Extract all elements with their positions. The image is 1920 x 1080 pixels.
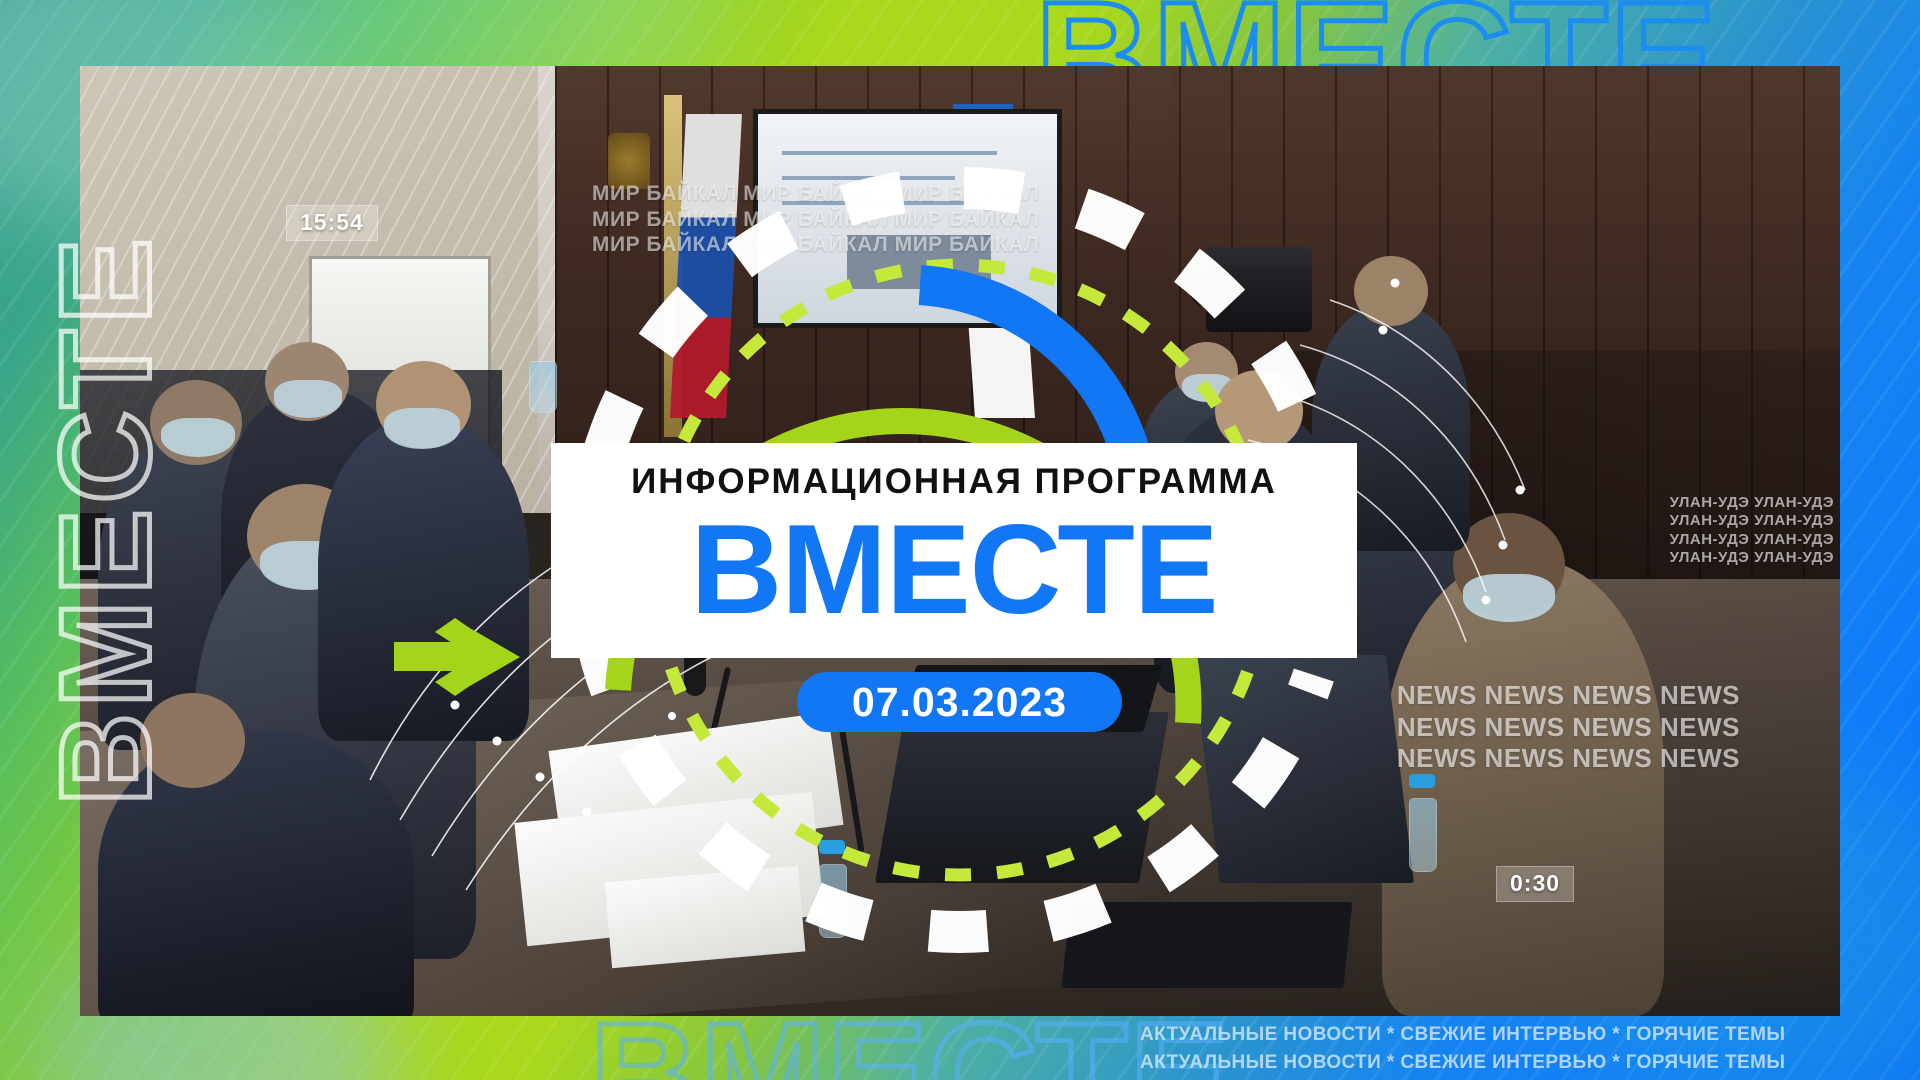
thumbnail-canvas: ВМЕСТЕ ВМЕСТЕ xyxy=(0,0,1920,1080)
monitor xyxy=(1192,655,1414,883)
laptop xyxy=(875,712,1169,883)
tv-camera-lens xyxy=(1189,270,1231,308)
watermark-line: NEWS NEWS NEWS NEWS xyxy=(1397,743,1740,775)
program-name: ВМЕСТЕ xyxy=(690,500,1217,640)
ticker-line: АКТУАЛЬНЫЕ НОВОСТИ * СВЕЖИЕ ИНТЕРВЬЮ * Г… xyxy=(1140,1021,1785,1049)
document-sheet xyxy=(605,865,805,967)
attendee-head xyxy=(1215,370,1303,452)
face-mask xyxy=(274,380,343,418)
water-bottle xyxy=(529,361,557,413)
bottle-cap xyxy=(1409,774,1435,788)
water-bottle xyxy=(1409,798,1437,872)
date-badge: 07.03.2023 xyxy=(797,672,1122,732)
watermark-line: УЛАН-УДЭ УЛАН-УДЭ xyxy=(1670,494,1834,512)
watermark-line: УЛАН-УДЭ УЛАН-УДЭ xyxy=(1670,512,1834,530)
keyboard xyxy=(1061,902,1352,988)
program-title-card: ИНФОРМАЦИОННАЯ ПРОГРАММА ВМЕСТЕ xyxy=(551,443,1357,658)
watermark-line: МИР БАЙКАЛ МИР БАЙКАЛ МИР БАЙКАЛ xyxy=(592,232,1040,258)
face-mask xyxy=(1463,574,1555,622)
water-bottle xyxy=(819,864,847,938)
attendee xyxy=(1382,560,1664,1016)
face-mask xyxy=(384,408,460,449)
vertical-outline-wordmark: ВМЕСТЕ xyxy=(43,232,171,805)
attendee xyxy=(318,418,529,741)
watermark-line: УЛАН-УДЭ УЛАН-УДЭ xyxy=(1670,531,1834,549)
watermark-news: NEWS NEWS NEWS NEWS NEWS NEWS NEWS NEWS … xyxy=(1397,680,1740,775)
bottle-cap xyxy=(819,840,845,854)
bottom-ticker: АКТУАЛЬНЫЕ НОВОСТИ * СВЕЖИЕ ИНТЕРВЬЮ * Г… xyxy=(1140,1021,1785,1080)
cameraman-head xyxy=(1354,256,1428,326)
timestamp-top-left: 15:54 xyxy=(286,205,378,241)
watermark-line: NEWS NEWS NEWS NEWS xyxy=(1397,712,1740,744)
ticker-line: АКТУАЛЬНЫЕ НОВОСТИ * СВЕЖИЕ ИНТЕРВЬЮ * Г… xyxy=(1140,1049,1785,1077)
watermark-line: NEWS NEWS NEWS NEWS xyxy=(1397,680,1740,712)
watermark-mir-baikal: МИР БАЙКАЛ МИР БАЙКАЛ МИР БАЙКАЛ МИР БАЙ… xyxy=(592,181,1040,258)
watermark-ulan-ude: УЛАН-УДЭ УЛАН-УДЭ УЛАН-УДЭ УЛАН-УДЭ УЛАН… xyxy=(1670,494,1834,567)
ticker-line: АКТУАЛЬНЫЕ НОВОСТИ * СВЕЖИЕ ИНТЕРВЬЮ * Г… xyxy=(1140,1076,1785,1080)
timestamp-bottom-right: 0:30 xyxy=(1496,866,1574,902)
watermark-line: МИР БАЙКАЛ МИР БАЙКАЛ МИР БАЙКАЛ xyxy=(592,207,1040,233)
watermark-line: УЛАН-УДЭ УЛАН-УДЭ xyxy=(1670,549,1834,567)
watermark-line: МИР БАЙКАЛ МИР БАЙКАЛ МИР БАЙКАЛ xyxy=(592,181,1040,207)
program-kicker: ИНФОРМАЦИОННАЯ ПРОГРАММА xyxy=(631,462,1277,502)
